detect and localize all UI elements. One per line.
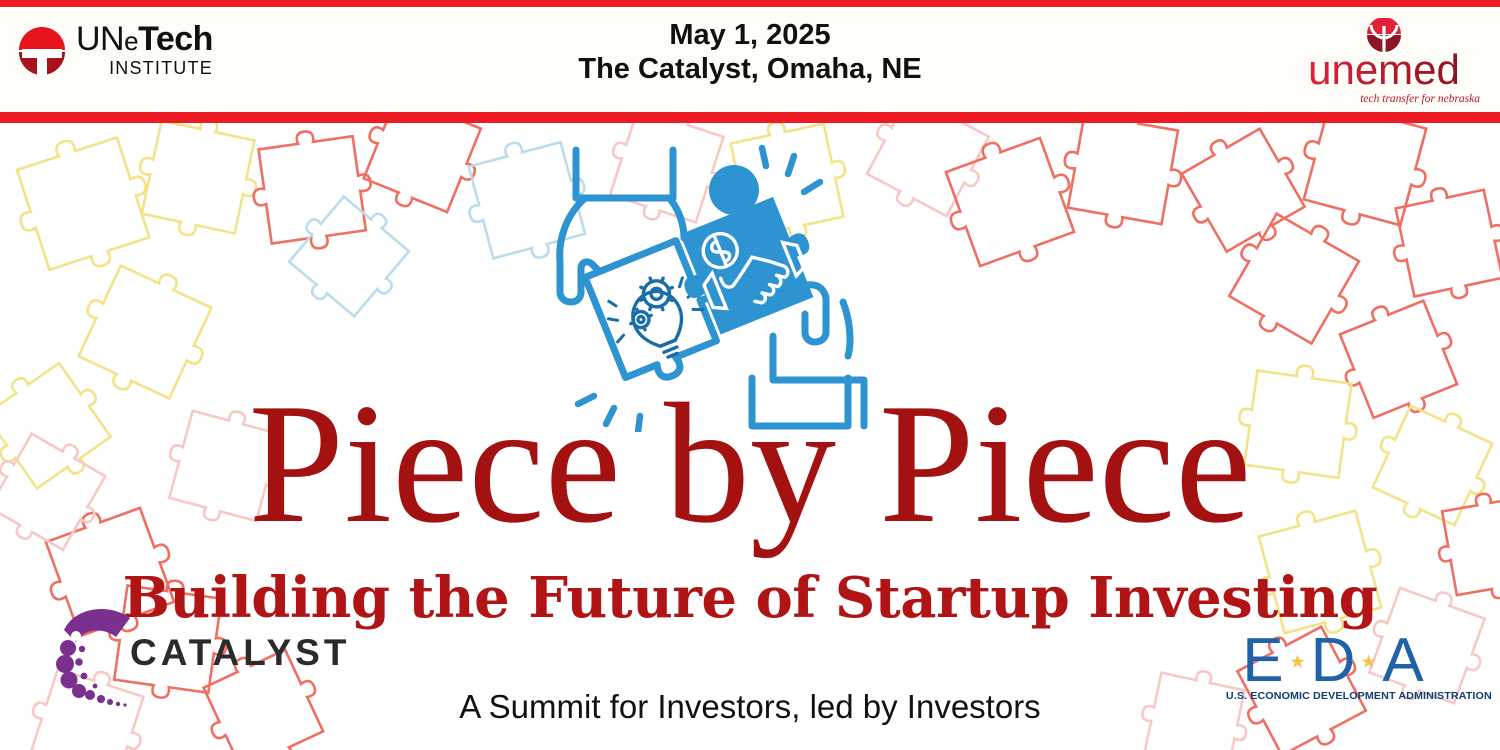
background-puzzle-piece xyxy=(1289,122,1441,240)
catalyst-logo[interactable]: CATALYST xyxy=(46,592,296,727)
event-venue: The Catalyst, Omaha, NE xyxy=(460,52,1040,86)
catalyst-wordmark: CATALYST xyxy=(130,632,350,674)
bottom-red-stripe xyxy=(0,112,1500,123)
header-event-details: May 1, 2025 The Catalyst, Omaha, NE xyxy=(460,18,1040,86)
background-puzzle-piece xyxy=(1214,198,1375,359)
unetech-logo[interactable]: UNeTech INSTITUTE xyxy=(14,22,244,102)
background-puzzle-piece xyxy=(1,122,165,286)
eda-letter-e: E xyxy=(1242,630,1283,692)
background-puzzle-piece xyxy=(1383,177,1500,309)
eda-logo[interactable]: E D A U.S. ECONOMIC DEVELOPMENT ADMINIST… xyxy=(1228,634,1438,712)
background-puzzle-piece xyxy=(350,122,495,226)
unemed-logo[interactable]: unemed tech transfer for nebraska xyxy=(1284,18,1484,108)
unetech-mark-icon xyxy=(14,22,70,84)
unetech-tech-text: Tech xyxy=(138,20,213,58)
background-puzzle-piece xyxy=(246,123,379,256)
background-puzzle-piece xyxy=(1055,122,1191,237)
eda-letter-a: A xyxy=(1382,630,1423,692)
unemed-tagline: tech transfer for nebraska xyxy=(1360,93,1480,105)
event-banner: UNeTech INSTITUTE May 1, 2025 The Cataly… xyxy=(0,0,1500,750)
unetech-un-text: UN xyxy=(76,20,124,58)
event-date: May 1, 2025 xyxy=(460,18,1040,52)
unetech-e-text: e xyxy=(124,26,138,56)
page-title: Piece by Piece xyxy=(0,378,1500,550)
unemed-wordmark: unemed xyxy=(1308,46,1460,93)
eda-letter-d: D xyxy=(1311,630,1356,692)
star-icon xyxy=(1290,654,1305,669)
top-red-stripe xyxy=(0,0,1500,7)
background-puzzle-piece xyxy=(128,122,268,247)
background-puzzle-piece xyxy=(1167,122,1319,266)
unetech-institute-text: INSTITUTE xyxy=(76,59,213,77)
eda-subtitle: U.S. ECONOMIC DEVELOPMENT ADMINISTRATION xyxy=(1226,690,1440,702)
star-icon xyxy=(1361,654,1376,669)
